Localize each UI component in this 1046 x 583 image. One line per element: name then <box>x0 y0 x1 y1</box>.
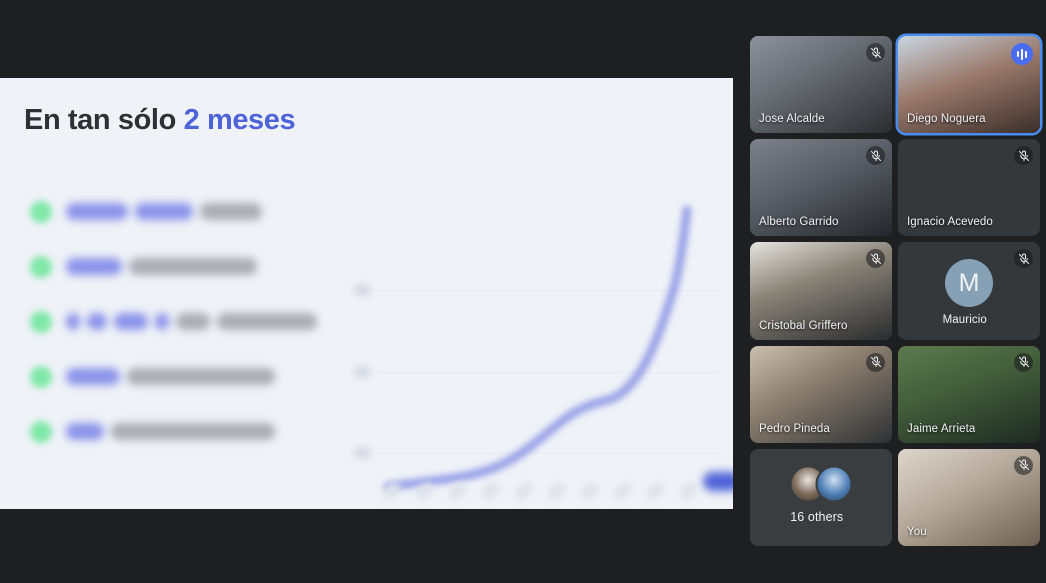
participant-tile[interactable]: Pedro Pineda <box>750 346 892 443</box>
mic-off-icon[interactable] <box>1014 456 1033 475</box>
participant-name-label: Mauricio <box>898 314 1031 326</box>
participant-name-label: Jose Alcalde <box>759 113 825 125</box>
redacted-word <box>135 203 193 220</box>
chart-x-tick-label <box>413 480 435 501</box>
redacted-word <box>155 313 169 330</box>
participant-tile[interactable]: Alberto Garrido <box>750 139 892 236</box>
slide-bullet-item <box>24 306 354 361</box>
chart-line-series <box>352 196 733 509</box>
participant-tile[interactable]: Diego Noguera <box>898 36 1040 133</box>
participant-name-label: 16 others <box>750 510 883 524</box>
chart-x-tick-label <box>578 480 600 501</box>
slide-bullet-list <box>24 196 354 471</box>
avatar <box>816 465 853 502</box>
bullet-dot-icon <box>30 256 52 278</box>
redacted-word <box>114 313 148 330</box>
participant-tile[interactable]: MMauricio <box>898 242 1040 339</box>
slide-bullet-item <box>24 196 354 251</box>
chart-x-tick-label <box>644 480 666 501</box>
participant-name-label: You <box>907 526 927 538</box>
screen-share-surface[interactable]: En tan sólo 2 meses <box>0 78 733 509</box>
bullet-dot-icon <box>30 366 52 388</box>
mic-off-icon[interactable] <box>866 353 885 372</box>
mic-off-icon[interactable] <box>1014 353 1033 372</box>
participant-name-label: Jaime Arrieta <box>907 423 975 435</box>
bullet-dot-icon <box>30 201 52 223</box>
chart-x-tick-label <box>380 480 402 501</box>
participant-name-label: Pedro Pineda <box>759 423 830 435</box>
redacted-word <box>217 313 317 330</box>
redacted-word <box>66 203 128 220</box>
redacted-word <box>66 368 120 385</box>
redacted-word <box>111 423 275 440</box>
participant-name-label: Ignacio Acevedo <box>907 216 993 228</box>
participant-video-grid[interactable]: Jose AlcaldeDiego NogueraAlberto Garrido… <box>750 36 1040 546</box>
redacted-word <box>129 258 257 275</box>
participant-tile[interactable]: You <box>898 449 1040 546</box>
chart-x-tick-label <box>677 480 699 501</box>
participant-name-label: Diego Noguera <box>907 113 986 125</box>
redacted-word <box>127 368 275 385</box>
participant-tile[interactable]: Jose Alcalde <box>750 36 892 133</box>
overflow-avatar-stack <box>790 465 853 502</box>
redacted-word <box>87 313 107 330</box>
participant-tile[interactable]: 16 others <box>750 449 892 546</box>
slide-bullet-item <box>24 416 354 471</box>
participant-tile[interactable]: Cristobal Griffero <box>750 242 892 339</box>
chart-x-tick-label <box>446 480 468 501</box>
mic-off-icon[interactable] <box>866 43 885 62</box>
participant-name-label: Alberto Garrido <box>759 216 838 228</box>
participant-tile[interactable]: Jaime Arrieta <box>898 346 1040 443</box>
chart-x-tick-label <box>512 480 534 501</box>
slide-bullet-item <box>24 251 354 306</box>
chart-x-axis-labels <box>366 465 723 501</box>
slide-title-accent: 2 meses <box>184 104 296 136</box>
slide-bullet-text-redacted <box>66 367 275 386</box>
bullet-dot-icon <box>30 311 52 333</box>
redacted-word <box>66 258 122 275</box>
chart-x-tick-label <box>611 480 633 501</box>
participant-name-label: Cristobal Griffero <box>759 320 848 332</box>
slide-title-plain: En tan sólo <box>24 104 176 136</box>
bullet-dot-icon <box>30 421 52 443</box>
redacted-word <box>200 203 262 220</box>
slide-title: En tan sólo 2 meses <box>24 104 295 137</box>
chart-x-tick-label <box>545 480 567 501</box>
slide-bullet-text-redacted <box>66 257 257 276</box>
growth-chart <box>352 196 733 509</box>
slide-bullet-text-redacted <box>66 422 275 441</box>
avatar: M <box>945 259 993 307</box>
redacted-word <box>66 313 80 330</box>
chart-x-tick-label <box>479 480 501 501</box>
slide-bullet-item <box>24 361 354 416</box>
audio-wave-icon <box>1011 43 1033 65</box>
redacted-word <box>176 313 210 330</box>
slide-bullet-text-redacted <box>66 202 262 221</box>
slide-bullet-text-redacted <box>66 312 317 331</box>
mic-off-icon[interactable] <box>1014 249 1033 268</box>
redacted-word <box>66 423 104 440</box>
participant-tile[interactable]: Ignacio Acevedo <box>898 139 1040 236</box>
